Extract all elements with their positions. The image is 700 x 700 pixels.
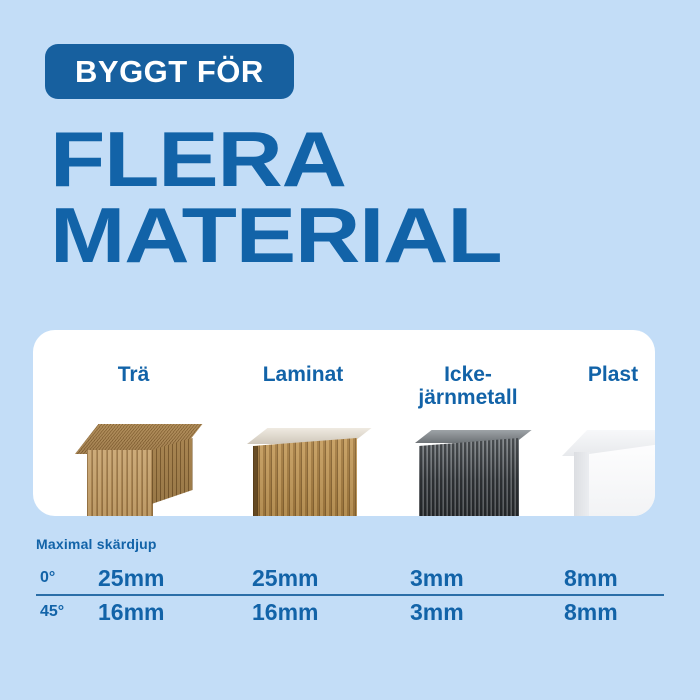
max-cutting-depth-table: Maximal skärdjup 0° 25mm 25mm 3mm 8mm 45… [36, 536, 664, 628]
laminate-left-edge [253, 446, 258, 516]
material-label: Trä [118, 364, 150, 387]
cell-wood: 25mm [98, 562, 164, 594]
badge-label: BYGGT FÖR [75, 56, 264, 87]
laminate-panel-icon [247, 428, 359, 516]
material-column-nonferrous-metal: Icke- järnmetall [378, 330, 558, 516]
plastic-front-face [574, 452, 590, 516]
material-label: Plast [588, 364, 638, 387]
wood-block-icon [75, 424, 193, 516]
row-angle: 45° [40, 596, 64, 628]
material-column-wood: Trä [41, 330, 226, 516]
material-label: Icke- järnmetall [418, 364, 517, 409]
metal-panel-icon [413, 430, 523, 516]
material-column-plastic: Plast [533, 330, 655, 516]
plastic-block-icon [560, 430, 655, 516]
table-title: Maximal skärdjup [36, 536, 664, 552]
laminate-face [253, 438, 357, 516]
row-angle: 0° [40, 562, 55, 594]
cell-laminate: 16mm [252, 596, 318, 628]
cell-metal: 3mm [410, 562, 464, 594]
materials-card: Trä Laminat Icke- järnmetall [33, 330, 655, 516]
cell-metal: 3mm [410, 596, 464, 628]
table-row: 45° 16mm 16mm 3mm 8mm [36, 594, 664, 628]
metal-face [419, 438, 519, 516]
promo-page: BYGGT FÖR FLERA MATERIAL Trä Laminat [0, 0, 700, 700]
material-column-laminate: Laminat [208, 330, 398, 516]
page-title: FLERA MATERIAL [50, 122, 501, 273]
cell-wood: 16mm [98, 596, 164, 628]
wood-front-face [87, 450, 153, 516]
cell-laminate: 25mm [252, 562, 318, 594]
byggt-for-badge: BYGGT FÖR [45, 44, 294, 99]
headline-line-1: FLERA [50, 122, 501, 198]
plastic-side-face [589, 444, 655, 516]
table-row: 0° 25mm 25mm 3mm 8mm [36, 562, 664, 594]
cell-plastic: 8mm [564, 562, 618, 594]
headline-line-2: MATERIAL [50, 198, 501, 274]
material-label: Laminat [263, 364, 344, 387]
cell-plastic: 8mm [564, 596, 618, 628]
